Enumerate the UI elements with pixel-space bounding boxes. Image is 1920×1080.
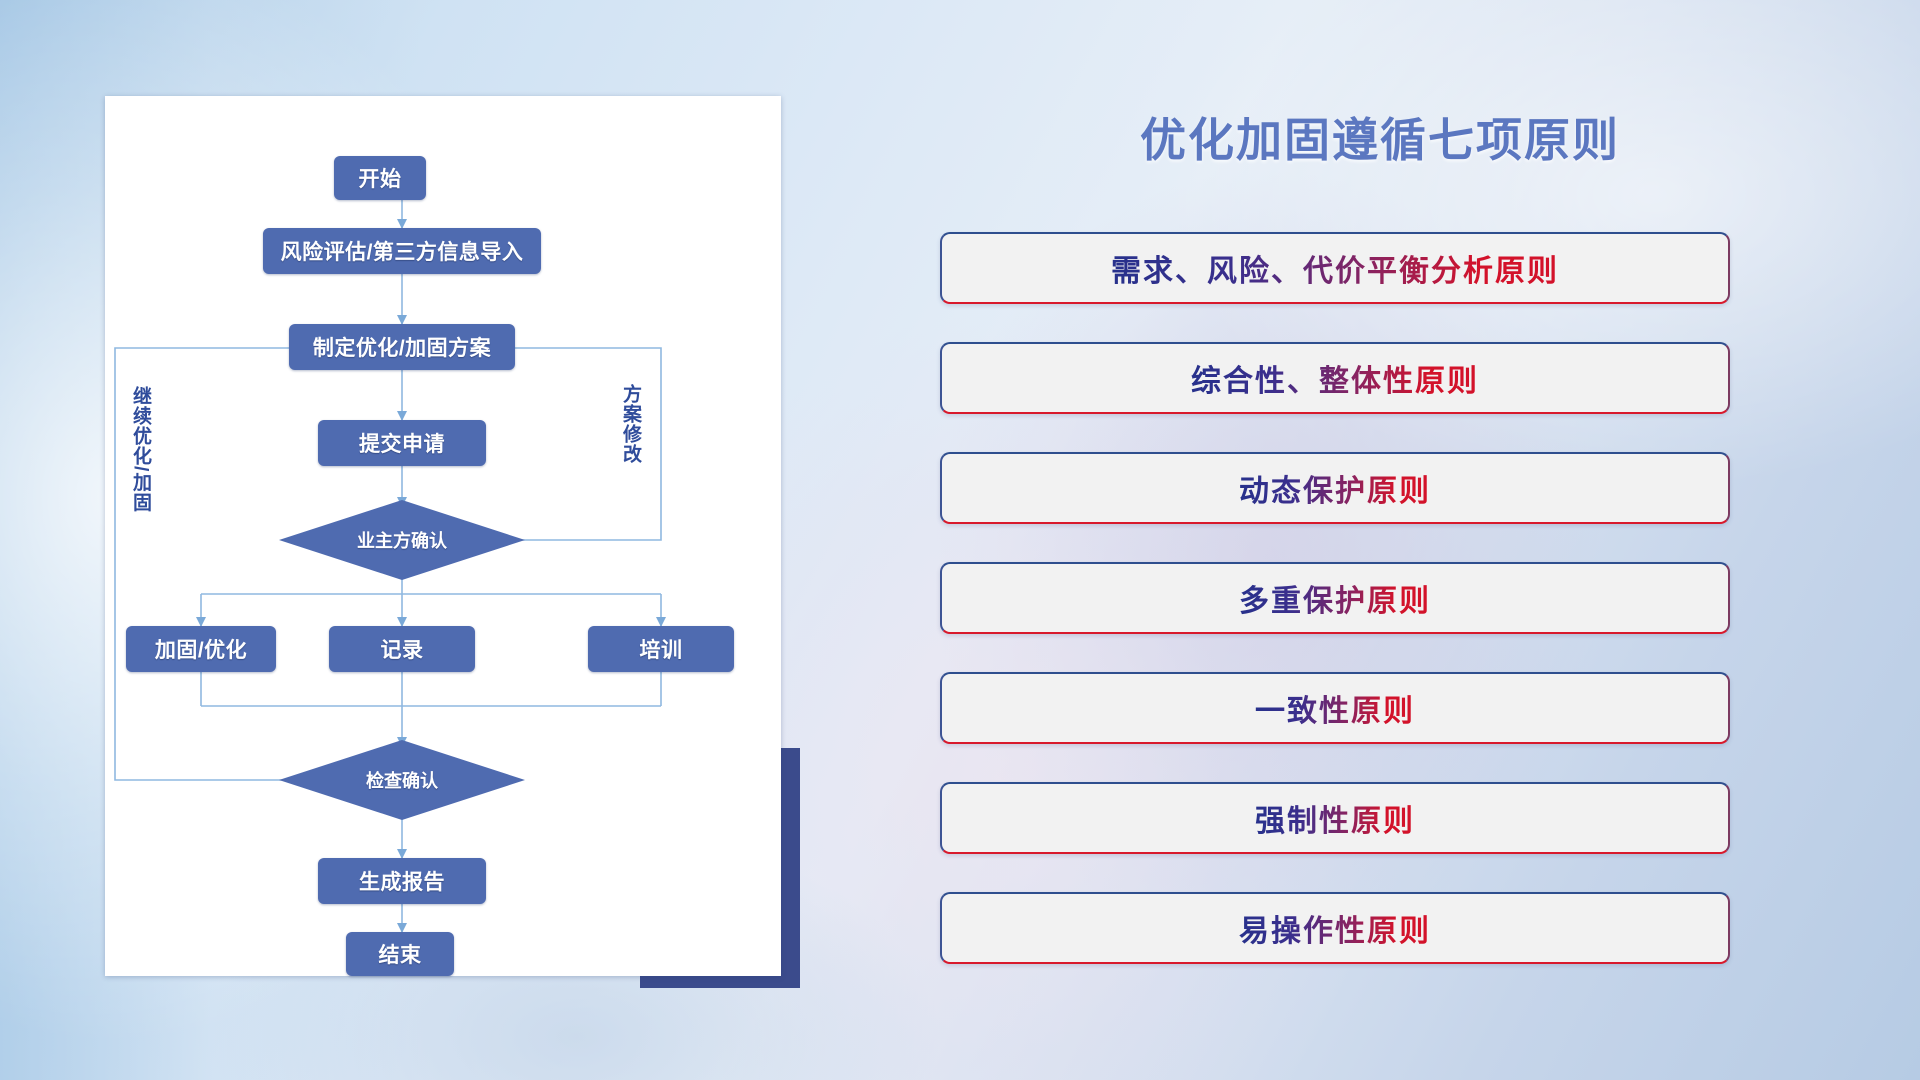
principle-card-3[interactable]: 动态保护原则 xyxy=(940,452,1730,524)
principles-panel: 优化加固遵循七项原则 需求、风险、代价平衡分析原则 综合性、整体性原则 动态保护… xyxy=(840,0,1920,1080)
principle-card-7[interactable]: 易操作性原则 xyxy=(940,892,1730,964)
principles-list: 需求、风险、代价平衡分析原则 综合性、整体性原则 动态保护原则 多重保护原则 一… xyxy=(940,232,1730,1002)
principle-card-5-label: 一致性原则 xyxy=(1255,686,1415,730)
principle-card-6-label: 强制性原则 xyxy=(1255,796,1415,840)
principle-card-5[interactable]: 一致性原则 xyxy=(940,672,1730,744)
flow-node-record[interactable]: 记录 xyxy=(329,626,475,672)
principle-card-2[interactable]: 综合性、整体性原则 xyxy=(940,342,1730,414)
principle-card-4[interactable]: 多重保护原则 xyxy=(940,562,1730,634)
flow-node-submit-application[interactable]: 提交申请 xyxy=(318,420,486,466)
flow-node-risk-assessment[interactable]: 风险评估/第三方信息导入 xyxy=(263,228,541,274)
principle-card-3-label: 动态保护原则 xyxy=(1239,466,1431,510)
flow-node-generate-report[interactable]: 生成报告 xyxy=(318,858,486,904)
flow-node-reinforce-optimize[interactable]: 加固/优化 xyxy=(126,626,276,672)
principle-card-2-label: 综合性、整体性原则 xyxy=(1191,356,1479,400)
flowchart-panel: 开始 风险评估/第三方信息导入 制定优化/加固方案 提交申请 业主方确认 加固/… xyxy=(0,0,840,1080)
flowchart-card: 开始 风险评估/第三方信息导入 制定优化/加固方案 提交申请 业主方确认 加固/… xyxy=(105,96,781,976)
principles-title: 优化加固遵循七项原则 xyxy=(840,104,1920,170)
flow-node-end[interactable]: 结束 xyxy=(346,932,454,976)
principle-card-4-label: 多重保护原则 xyxy=(1239,576,1431,620)
flow-node-training[interactable]: 培训 xyxy=(588,626,734,672)
principle-card-1-label: 需求、风险、代价平衡分析原则 xyxy=(1111,246,1559,290)
flowchart-canvas: 开始 风险评估/第三方信息导入 制定优化/加固方案 提交申请 业主方确认 加固/… xyxy=(105,96,781,976)
flow-node-start[interactable]: 开始 xyxy=(334,156,426,200)
flow-edge-label-plan-revision: 方案修改 xyxy=(617,384,644,464)
principle-card-7-label: 易操作性原则 xyxy=(1239,906,1431,950)
principle-card-6[interactable]: 强制性原则 xyxy=(940,782,1730,854)
principle-card-1[interactable]: 需求、风险、代价平衡分析原则 xyxy=(940,232,1730,304)
flow-edge-label-continue-optimize: 继续优化/加固 xyxy=(127,386,154,512)
flow-node-plan[interactable]: 制定优化/加固方案 xyxy=(289,324,515,370)
